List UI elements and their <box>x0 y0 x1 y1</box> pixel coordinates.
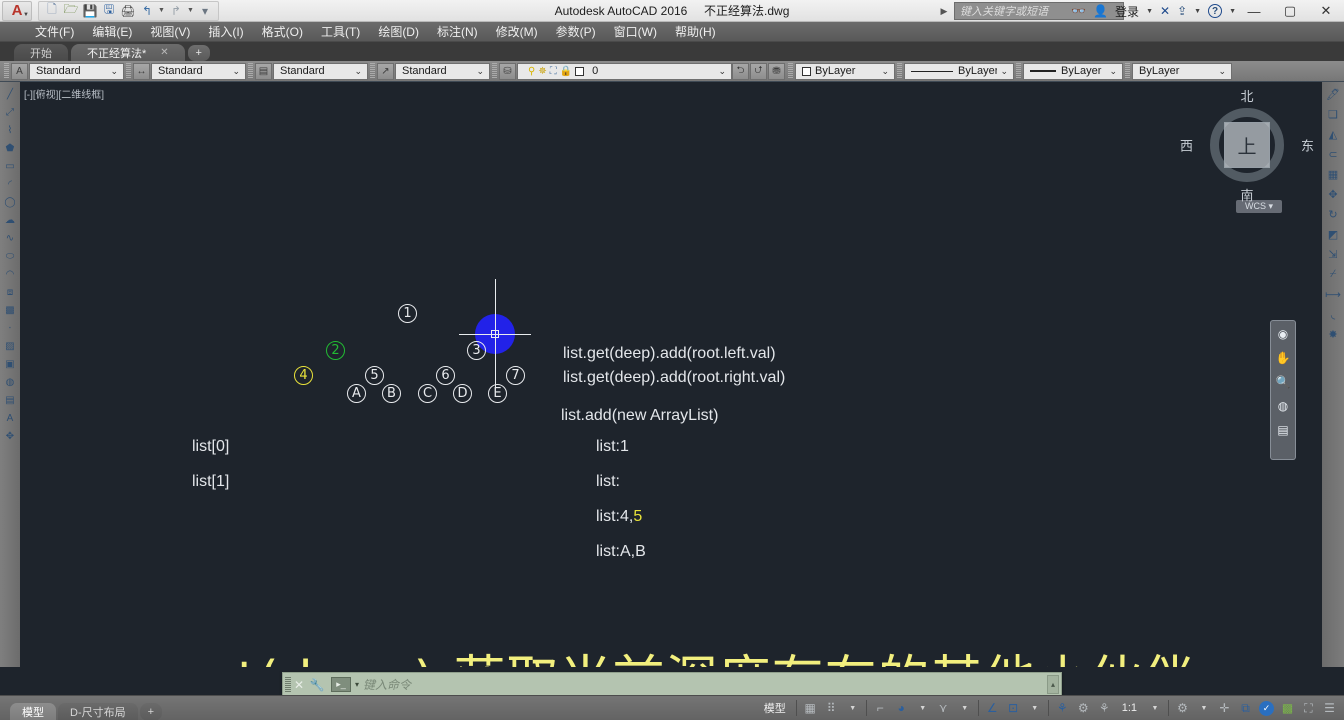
tab-start[interactable]: 开始 <box>14 44 68 61</box>
menu-edit[interactable]: 编辑(E) <box>83 21 141 42</box>
toolbar-grip[interactable] <box>492 63 497 79</box>
gradient-icon[interactable]: ▣ <box>2 356 19 372</box>
tab-document[interactable]: 不正经算法* ✕ <box>71 44 185 61</box>
autocad-window: A ▼ 🗋 🗁 💾 🖫 🖨 ↰ ▼ ↱ ▼ ▾ Autodesk AutoCAD… <box>0 0 1344 720</box>
layer-lock-pane-icon[interactable]: ⛶ <box>550 66 557 77</box>
close-button[interactable]: ✕ <box>1308 0 1344 22</box>
menu-format[interactable]: 格式(O) <box>253 21 312 42</box>
layer-previous-icon[interactable]: ⮌ <box>732 63 749 80</box>
pan-icon[interactable]: ✋ <box>1273 349 1293 367</box>
dimension-style-icon[interactable]: ↔ <box>133 63 150 80</box>
zoom-extents-icon[interactable]: 🔍 <box>1273 373 1293 391</box>
divider <box>978 700 979 716</box>
layout-tab-model[interactable]: 模型 <box>10 703 56 720</box>
marker-4[interactable]: 4 <box>294 366 313 385</box>
add-selected-icon[interactable]: ✥ <box>2 428 19 444</box>
marker-6[interactable]: 6 <box>436 366 455 385</box>
redo-dropdown-icon[interactable]: ▼ <box>187 7 194 14</box>
insert-block-icon[interactable]: ⧈ <box>2 284 19 300</box>
polar-dropdown-icon[interactable]: ▼ <box>912 697 933 719</box>
menu-insert[interactable]: 插入(I) <box>199 21 252 42</box>
application-menu-button[interactable]: A ▼ <box>2 1 32 21</box>
draw-toolbar: ╱⤢⌇⬟▭◜◯☁∿⬭◠⧈▩⋅▨▣◍▤A✥ <box>0 82 20 667</box>
autocad-logo-icon: A <box>12 2 23 19</box>
list-state-prefix: list:1 <box>596 438 629 455</box>
list-state-line: list:1 <box>596 438 629 456</box>
list-state-line: list: <box>596 473 620 491</box>
view-cube-west[interactable]: 西 <box>1180 136 1193 155</box>
table-icon[interactable]: ▤ <box>2 392 19 408</box>
array-icon[interactable]: ▦ <box>1324 166 1342 183</box>
text-style-value: Standard <box>36 65 107 77</box>
drawing-canvas[interactable]: [-][俯视][二维线框] 上 北 南 西 东 WCS ▾ ◉✋🔍◍▤ 1234… <box>20 82 1322 667</box>
layer-properties-manager-icon[interactable]: ⛃ <box>768 63 785 80</box>
isolate-objects-icon[interactable]: ✓ <box>1256 697 1277 719</box>
view-cube-top-face[interactable]: 上 <box>1224 122 1270 168</box>
open-icon[interactable]: 🗁 <box>63 3 79 19</box>
code-line: list.get(deep).add(root.left.val) <box>563 345 776 363</box>
hardware-accel-icon[interactable]: ⧉ <box>1235 697 1256 719</box>
layer-lock-icon[interactable]: 🔒 <box>560 66 572 77</box>
snap-mode-icon[interactable]: ⠿ <box>821 697 842 719</box>
scale-icon[interactable]: ◩ <box>1324 226 1342 243</box>
layout-tab-add[interactable]: + <box>140 703 162 720</box>
layer-color-swatch[interactable] <box>575 67 584 76</box>
document-name: 不正经算法.dwg <box>704 4 789 18</box>
plotstyle-value: ByLayer <box>1139 65 1215 77</box>
divider <box>1168 700 1169 716</box>
point-icon[interactable]: ⋅ <box>2 320 19 336</box>
line-icon[interactable]: ╱ <box>2 86 19 102</box>
annotation-visibility-icon[interactable]: ⚙ <box>1172 697 1193 719</box>
command-prompt-icon[interactable]: ▸_ <box>331 677 351 692</box>
search-expand-icon[interactable]: ▶ <box>938 6 950 17</box>
code-line: list.add(new ArrayList) <box>561 407 718 425</box>
list-state-highlight: 5 <box>633 508 642 525</box>
plotstyle-combo[interactable]: ByLayer ⌄ <box>1132 63 1232 80</box>
spline-icon[interactable]: ∿ <box>2 230 19 246</box>
autodesk-exchange-icon[interactable]: ✕ <box>1160 4 1170 18</box>
marker-2[interactable]: 2 <box>326 341 345 360</box>
undo-dropdown-icon[interactable]: ▼ <box>158 7 165 14</box>
grid-display-icon[interactable]: ▦ <box>800 697 821 719</box>
table-style-combo[interactable]: Standard ⌄ <box>273 63 368 80</box>
close-icon[interactable]: ✕ <box>160 47 168 58</box>
dimension-style-value: Standard <box>158 65 229 77</box>
tab-document-label: 不正经算法* <box>87 45 146 61</box>
rectangle-icon[interactable]: ▭ <box>2 158 19 174</box>
lineweight-combo[interactable]: ByLayer ⌄ <box>1023 63 1123 80</box>
list-state-prefix: list:4, <box>596 508 633 525</box>
chevron-down-icon: ⌄ <box>473 66 487 77</box>
view-cube-north[interactable]: 北 <box>1240 86 1253 105</box>
minimize-button[interactable]: — <box>1236 0 1272 22</box>
help-icon[interactable]: ? <box>1208 4 1222 18</box>
showmotion-icon[interactable]: ▤ <box>1273 421 1293 439</box>
new-icon[interactable]: 🗋 <box>44 3 60 19</box>
window-controls: — ▢ ✕ <box>1236 0 1344 22</box>
erase-icon[interactable]: 🖊 <box>1324 86 1342 103</box>
list-index-label: list[1] <box>192 473 229 491</box>
isodraft-icon[interactable]: ⋎ <box>933 697 954 719</box>
layout-tab-dimension[interactable]: D-尺寸布局 <box>58 703 138 720</box>
annotation-scale-value[interactable]: 1:1 <box>1115 697 1144 719</box>
toolbar-grip[interactable] <box>897 63 902 79</box>
marker-b[interactable]: B <box>382 384 401 403</box>
polygon-icon[interactable]: ⬟ <box>2 140 19 156</box>
new-tab-button[interactable]: + <box>188 45 210 61</box>
ellipse-icon[interactable]: ⬭ <box>2 248 19 264</box>
account-dropdown-icon[interactable]: ▼ <box>1146 8 1153 15</box>
status-model-label[interactable]: 模型 <box>757 697 793 719</box>
toolbar-grip[interactable] <box>370 63 375 79</box>
viewport-label[interactable]: [-][俯视][二维线框] <box>24 86 104 101</box>
chevron-down-icon: ⌄ <box>878 66 892 77</box>
toolbar-grip[interactable] <box>1125 63 1130 79</box>
divider <box>866 700 867 716</box>
menu-dimension[interactable]: 标注(N) <box>428 21 487 42</box>
snap-dropdown-icon[interactable]: ▼ <box>842 697 863 719</box>
app-name: Autodesk AutoCAD 2016 <box>555 4 688 18</box>
user-account-icon[interactable]: 👤 <box>1093 4 1108 18</box>
divider <box>796 700 797 716</box>
copy-icon[interactable]: ❏ <box>1324 106 1342 123</box>
multileader-style-combo[interactable]: Standard ⌄ <box>395 63 490 80</box>
menu-draw[interactable]: 绘图(D) <box>369 21 428 42</box>
chevron-down-icon: ⌄ <box>229 66 243 77</box>
marker-3[interactable]: 3 <box>467 341 486 360</box>
layer-make-current-icon[interactable]: ⮍ <box>750 63 767 80</box>
orbit-icon[interactable]: ◍ <box>1273 397 1293 415</box>
rotate-icon[interactable]: ↻ <box>1324 206 1342 223</box>
color-swatch <box>802 67 811 76</box>
layer-freeze-icon[interactable]: ✵ <box>538 66 546 77</box>
table-style-value: Standard <box>280 65 351 77</box>
revcloud-icon[interactable]: ☁ <box>2 212 19 228</box>
polar-tracking-icon[interactable]: ◕ <box>891 697 912 719</box>
lineweight-preview-icon <box>1030 70 1056 72</box>
help-dropdown-icon[interactable]: ▼ <box>1229 8 1236 15</box>
share-dropdown-icon[interactable]: ▼ <box>1194 8 1201 15</box>
status-bar: 模型D-尺寸布局+ 模型 ▦ ⠿ ▼ ⌐ ◕ ▼ ⋎ ▼ ∠ ⊡ ▼ ⚘ ⚙ ⚘… <box>0 695 1344 720</box>
ortho-mode-icon[interactable]: ⌐ <box>870 697 891 719</box>
title-bar-tools: 👓 👤 登录 ▼ ✕ ⇪ ▼ ? ▼ <box>1071 2 1236 20</box>
modify-toolbar: 🖊❏◭⊂▦✥↻◩⇲⌿⟼◟✸ <box>1322 82 1344 667</box>
offset-icon[interactable]: ⊂ <box>1324 146 1342 163</box>
circle-icon[interactable]: ◯ <box>2 194 19 210</box>
save-icon[interactable]: 💾 <box>82 3 98 19</box>
chevron-down-icon: ⌄ <box>1106 66 1120 77</box>
view-cube-east[interactable]: 东 <box>1301 136 1314 155</box>
chevron-down-icon: ⌄ <box>997 66 1011 77</box>
color-value: ByLayer <box>815 65 878 77</box>
menu-window[interactable]: 窗口(W) <box>605 21 666 42</box>
marker-c[interactable]: C <box>418 384 437 403</box>
construction-line-icon[interactable]: ⤢ <box>2 104 19 120</box>
chevron-down-icon: ▼ <box>23 12 29 18</box>
color-combo[interactable]: ByLayer ⌄ <box>795 63 895 80</box>
table-style-icon[interactable]: ▤ <box>255 63 272 80</box>
workspace-switch-icon[interactable]: ✛ <box>1214 697 1235 719</box>
wcs-selector[interactable]: WCS ▾ <box>1236 200 1282 213</box>
lineweight-value: ByLayer <box>1061 65 1106 77</box>
marker-a[interactable]: A <box>347 384 366 403</box>
clean-screen-icon[interactable]: ⛶ <box>1298 697 1319 719</box>
wrench-icon[interactable]: 🔧 <box>307 678 327 692</box>
graphics-performance-icon[interactable]: ▩ <box>1277 697 1298 719</box>
list-state-line: list:A,B <box>596 543 646 561</box>
extend-icon[interactable]: ⟼ <box>1324 286 1342 303</box>
text-style-combo[interactable]: Standard ⌄ <box>29 63 124 80</box>
divider <box>1048 700 1049 716</box>
menu-modify[interactable]: 修改(M) <box>487 21 547 42</box>
list-state-prefix: list:A,B <box>596 543 646 560</box>
mirror-icon[interactable]: ◭ <box>1324 126 1342 143</box>
toolbar-grip[interactable] <box>1016 63 1021 79</box>
arc-icon[interactable]: ◜ <box>2 176 19 192</box>
qat-customize-icon[interactable]: ▾ <box>197 3 213 19</box>
list-state-prefix: list: <box>596 473 620 490</box>
full-navigation-wheel-icon[interactable]: ◉ <box>1273 325 1293 343</box>
marker-d[interactable]: D <box>453 384 472 403</box>
title-bar: A ▼ 🗋 🗁 💾 🖫 🖨 ↰ ▼ ↱ ▼ ▾ Autodesk AutoCAD… <box>0 0 1344 22</box>
polyline-icon[interactable]: ⌇ <box>2 122 19 138</box>
menu-bar: 文件(F)编辑(E)视图(V)插入(I)格式(O)工具(T)绘图(D)标注(N)… <box>0 22 1344 42</box>
marker-e[interactable]: E <box>488 384 507 403</box>
command-input[interactable]: 键入命令 <box>363 676 1061 693</box>
search-help-icon[interactable]: 👓 <box>1071 4 1086 18</box>
command-history-scroll[interactable]: ▴ <box>1047 675 1059 694</box>
close-icon[interactable]: ✕ <box>291 678 307 692</box>
make-block-icon[interactable]: ▩ <box>2 302 19 318</box>
multileader-style-value: Standard <box>402 65 473 77</box>
linetype-preview-icon <box>911 71 953 72</box>
toolbar-grip[interactable] <box>126 63 131 79</box>
quick-access-toolbar: 🗋 🗁 💾 🖫 🖨 ↰ ▼ ↱ ▼ ▾ <box>38 1 219 21</box>
stretch-icon[interactable]: ⇲ <box>1324 246 1342 263</box>
fillet-icon[interactable]: ◟ <box>1324 306 1342 323</box>
undo-icon[interactable]: ↰ <box>139 3 155 19</box>
view-cube[interactable]: 上 北 南 西 东 <box>1192 90 1302 200</box>
save-as-icon[interactable]: 🖫 <box>101 3 117 19</box>
annotation-text: get(deep):获取当前深度存在的其他小伙伴 <box>170 638 1195 667</box>
region-icon[interactable]: ◍ <box>2 374 19 390</box>
transparency-icon[interactable]: ⚙ <box>1073 697 1094 719</box>
dimension-style-combo[interactable]: Standard ⌄ <box>151 63 246 80</box>
layer-combo[interactable]: ⚲ ✵ ⛶ 🔒 0 ⌄ <box>517 63 732 80</box>
marker-1[interactable]: 1 <box>398 304 417 323</box>
navigation-bar: ◉✋🔍◍▤ <box>1270 320 1296 460</box>
layer-state-toggles: ⚲ ✵ ⛶ 🔒 <box>524 66 592 77</box>
layer-value: 0 <box>592 65 715 77</box>
share-icon[interactable]: ⇪ <box>1177 4 1187 18</box>
hatch-icon[interactable]: ▨ <box>2 338 19 354</box>
file-tab-bar: 开始 不正经算法* ✕ + <box>0 42 1344 61</box>
marker-5[interactable]: 5 <box>365 366 384 385</box>
toolbar-grip[interactable] <box>248 63 253 79</box>
menu-view[interactable]: 视图(V) <box>141 21 199 42</box>
status-bar-tools: 模型 ▦ ⠿ ▼ ⌐ ◕ ▼ ⋎ ▼ ∠ ⊡ ▼ ⚘ ⚙ ⚘ 1:1 ▼ ⚙ ▼… <box>757 696 1344 720</box>
explode-icon[interactable]: ✸ <box>1324 326 1342 343</box>
scale-dropdown-icon[interactable]: ▼ <box>1144 697 1165 719</box>
chevron-down-icon: ⌄ <box>107 66 121 77</box>
multileader-style-icon[interactable]: ↗ <box>377 63 394 80</box>
linetype-combo[interactable]: ByLayer ⌄ <box>904 63 1014 80</box>
chevron-down-icon[interactable]: ▾ <box>355 680 359 689</box>
chevron-down-icon: ⌄ <box>715 66 729 77</box>
text-style-icon[interactable]: A <box>11 63 28 80</box>
menu-help[interactable]: 帮助(H) <box>666 21 725 42</box>
tab-start-label: 开始 <box>30 45 52 61</box>
layout-tabs: 模型D-尺寸布局+ <box>0 696 162 720</box>
code-line: list.get(deep).add(root.right.val) <box>563 369 785 387</box>
trim-icon[interactable]: ⌿ <box>1324 266 1342 283</box>
toolbar-grip[interactable] <box>4 63 9 79</box>
maximize-button[interactable]: ▢ <box>1272 0 1308 22</box>
layer-properties-icon[interactable]: ⛁ <box>499 63 516 80</box>
sign-in-label[interactable]: 登录 <box>1115 3 1139 20</box>
linetype-value: ByLayer <box>958 65 997 77</box>
chevron-down-icon: ⌄ <box>351 66 365 77</box>
list-index-label: list[0] <box>192 438 229 456</box>
object-snap-tracking-icon[interactable]: ∠ <box>982 697 1003 719</box>
selection-cycling-icon[interactable]: ⚘ <box>1094 697 1115 719</box>
customization-icon[interactable]: ☰ <box>1319 697 1340 719</box>
layer-on-icon[interactable]: ⚲ <box>528 66 535 77</box>
list-state-line: list:4,5 <box>596 508 642 526</box>
properties-toolbar: A Standard ⌄ ↔ Standard ⌄ ▤ Standard ⌄ ↗… <box>0 61 1344 82</box>
toolbar-grip[interactable] <box>788 63 793 79</box>
command-line[interactable]: ✕ 🔧 ▸_ ▾ 键入命令 ▴ <box>282 672 1062 697</box>
plot-icon[interactable]: 🖨 <box>120 3 136 19</box>
isodraft-dropdown-icon[interactable]: ▼ <box>954 697 975 719</box>
mtext-icon[interactable]: A <box>2 410 19 426</box>
menu-parametric[interactable]: 参数(P) <box>547 21 605 42</box>
redo-icon[interactable]: ↱ <box>168 3 184 19</box>
annovis-dropdown-icon[interactable]: ▼ <box>1193 697 1214 719</box>
menu-tools[interactable]: 工具(T) <box>312 21 369 42</box>
pickbox <box>491 330 499 338</box>
object-snap-icon[interactable]: ⊡ <box>1003 697 1024 719</box>
lineweight-display-icon[interactable]: ⚘ <box>1052 697 1073 719</box>
chevron-down-icon: ⌄ <box>1215 66 1229 77</box>
menu-file[interactable]: 文件(F) <box>26 21 83 42</box>
osnap-dropdown-icon[interactable]: ▼ <box>1024 697 1045 719</box>
move-icon[interactable]: ✥ <box>1324 186 1342 203</box>
ellipse-arc-icon[interactable]: ◠ <box>2 266 19 282</box>
marker-7[interactable]: 7 <box>506 366 525 385</box>
